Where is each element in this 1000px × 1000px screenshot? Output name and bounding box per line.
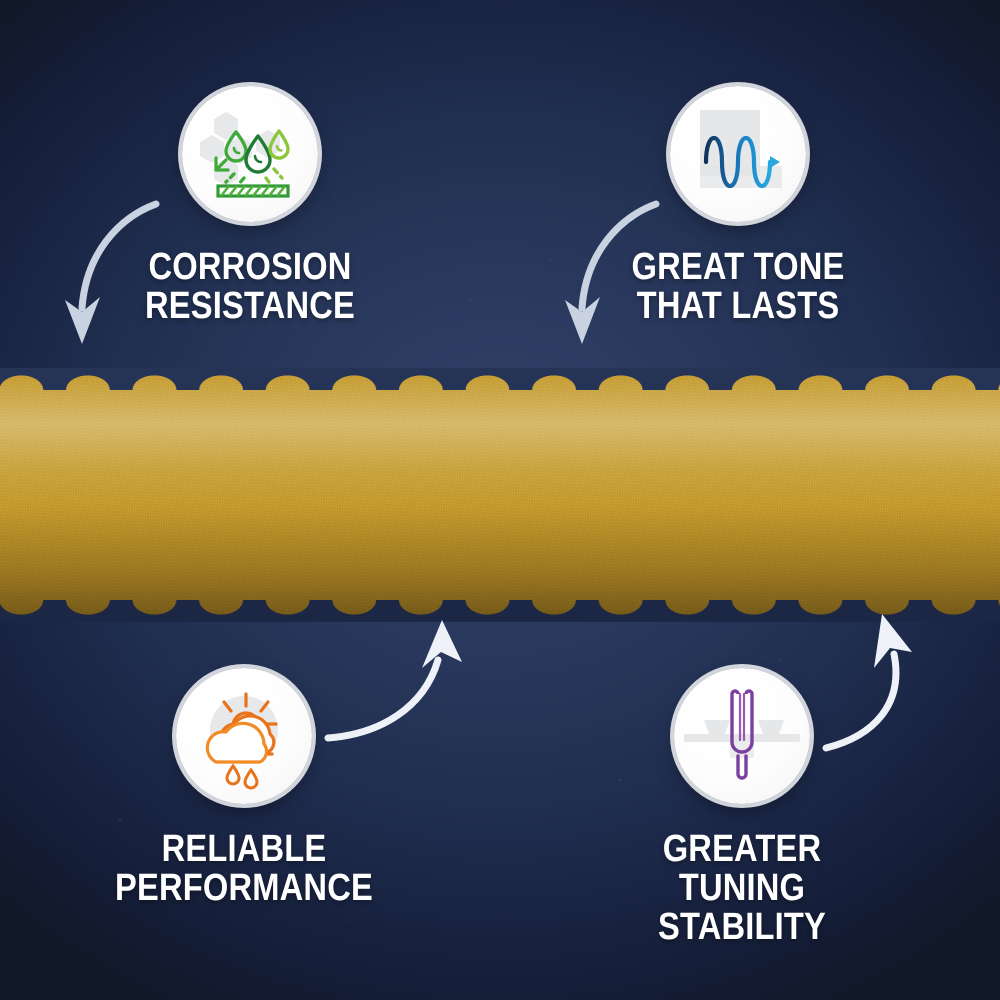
feature-label-corrosion-resistance: CORROSION RESISTANCE bbox=[121, 248, 379, 326]
badge-great-tone bbox=[670, 86, 806, 222]
coil-sheen-overlay bbox=[0, 368, 1000, 622]
product-coiled-gold-string bbox=[0, 368, 1000, 622]
feature-great-tone: GREAT TONE THAT LASTS bbox=[588, 86, 888, 326]
feature-corrosion-resistance: CORROSION RESISTANCE bbox=[100, 86, 400, 326]
coil-top-scallop-edge bbox=[0, 368, 1000, 390]
feature-label-reliable-performance: RELIABLE PERFORMANCE bbox=[115, 830, 373, 908]
water-droplets-repellent-icon bbox=[182, 86, 318, 222]
feature-reliable-performance: RELIABLE PERFORMANCE bbox=[94, 668, 394, 908]
tuning-fork-icon bbox=[674, 668, 810, 804]
sun-cloud-rain-weather-icon bbox=[176, 668, 312, 804]
badge-corrosion-resistance bbox=[182, 86, 318, 222]
feature-greater-tuning-stability: GREATER TUNING STABILITY bbox=[592, 668, 892, 946]
feature-label-greater-tuning-stability: GREATER TUNING STABILITY bbox=[613, 830, 871, 946]
sine-waveform-icon bbox=[670, 86, 806, 222]
feature-label-great-tone: GREAT TONE THAT LASTS bbox=[609, 248, 867, 326]
badge-greater-tuning-stability bbox=[674, 668, 810, 804]
infographic-canvas: CORROSION RESISTANCE GREAT TONE THAT L bbox=[0, 0, 1000, 1000]
coil-bottom-scallop-edge bbox=[0, 600, 1000, 622]
badge-reliable-performance bbox=[176, 668, 312, 804]
